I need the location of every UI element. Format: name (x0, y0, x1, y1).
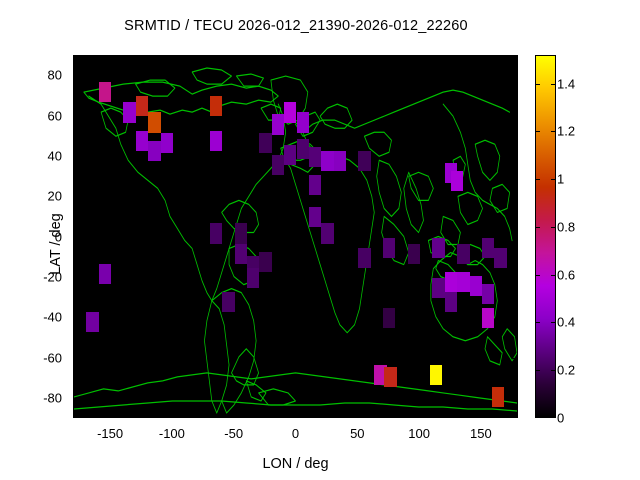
heatmap-cell (161, 133, 173, 153)
heatmap-cell (430, 365, 442, 385)
heatmap-cell (494, 248, 506, 268)
heatmap-cell (259, 252, 271, 272)
heatmap-cell (482, 284, 494, 304)
heatmap-cell (309, 175, 321, 195)
x-tick-label: 150 (451, 426, 511, 441)
y-tick-label: -80 (0, 390, 62, 405)
heatmap-cell (321, 223, 333, 243)
colorbar-tick-mark (551, 227, 556, 228)
heatmap-cell (309, 207, 321, 227)
heatmap-cell (210, 131, 222, 151)
x-tick-mark (234, 413, 235, 418)
x-tick-label: -50 (204, 426, 264, 441)
y-tick-mark (513, 75, 518, 76)
heatmap-cell (383, 238, 395, 258)
y-tick-label: 40 (0, 148, 62, 163)
heatmap-cell (408, 244, 420, 264)
x-tick-label: -100 (142, 426, 202, 441)
colorbar-tick-mark (551, 275, 556, 276)
heatmap-cell (309, 147, 321, 167)
colorbar-tick-mark (551, 322, 556, 323)
heatmap-cell (86, 312, 98, 332)
heatmap-cell (334, 151, 346, 171)
y-tick-mark (73, 75, 78, 76)
x-tick-mark (419, 413, 420, 418)
heatmap-cell (457, 272, 469, 292)
y-tick-mark (73, 358, 78, 359)
colorbar[interactable] (535, 55, 556, 418)
y-tick-label: 80 (0, 68, 62, 83)
heatmap-cell (210, 223, 222, 243)
x-tick-label: 0 (266, 426, 326, 441)
heatmap-cell (247, 268, 259, 288)
y-tick-mark (73, 156, 78, 157)
colorbar-tick-mark (551, 131, 556, 132)
x-tick-label: -150 (80, 426, 140, 441)
y-axis-title: LAT / deg (48, 164, 64, 324)
colorbar-tick-label: 1.2 (557, 124, 575, 139)
heatmap-cell (284, 102, 296, 122)
colorbar-tick-label: 1 (557, 172, 564, 187)
heatmap-cell (136, 131, 148, 151)
map-plot-area[interactable] (73, 55, 518, 418)
colorbar-tick-mark (535, 179, 540, 180)
heatmap-cell (383, 308, 395, 328)
x-tick-mark (481, 413, 482, 418)
heatmap-cell (235, 223, 247, 243)
heatmap-cell (284, 145, 296, 165)
y-tick-mark (513, 116, 518, 117)
x-tick-mark (234, 55, 235, 60)
heatmap-cell (148, 141, 160, 161)
heatmap-cell (235, 244, 247, 264)
heatmap-cell (470, 276, 482, 296)
y-tick-mark (73, 196, 78, 197)
heatmap-cell (123, 102, 135, 122)
x-tick-mark (357, 55, 358, 60)
colorbar-tick-mark (535, 275, 540, 276)
colorbar-tick-mark (535, 227, 540, 228)
y-tick-mark (513, 196, 518, 197)
heatmap-cell (321, 151, 333, 171)
colorbar-tick-mark (535, 322, 540, 323)
x-tick-mark (296, 55, 297, 60)
heatmap-cell (210, 96, 222, 116)
y-tick-label: 60 (0, 108, 62, 123)
y-tick-mark (513, 398, 518, 399)
heatmap-cell (445, 272, 457, 292)
y-tick-mark (73, 277, 78, 278)
x-tick-mark (172, 55, 173, 60)
heatmap-cell (457, 244, 469, 264)
x-tick-mark (481, 55, 482, 60)
heatmap-cell (222, 292, 234, 312)
y-tick-mark (73, 398, 78, 399)
colorbar-tick-label: 0.8 (557, 219, 575, 234)
y-tick-mark (513, 156, 518, 157)
heatmap-cell (358, 248, 370, 268)
heatmap-cell (136, 96, 148, 116)
y-tick-mark (73, 317, 78, 318)
colorbar-tick-label: 1.4 (557, 76, 575, 91)
colorbar-tick-mark (551, 370, 556, 371)
colorbar-tick-mark (535, 370, 540, 371)
heatmap-cell (272, 155, 284, 175)
heatmap-cell (451, 171, 463, 191)
x-tick-mark (357, 413, 358, 418)
x-tick-mark (172, 413, 173, 418)
heatmap-cell (432, 278, 444, 298)
colorbar-tick-mark (535, 84, 540, 85)
heatmap-cell (272, 114, 284, 134)
y-tick-mark (73, 237, 78, 238)
heatmap-cell (297, 139, 309, 159)
heatmap-cell (492, 387, 504, 407)
heatmap-cell (148, 112, 160, 132)
x-tick-mark (110, 413, 111, 418)
heatmap-cell (432, 238, 444, 258)
x-tick-label: 100 (389, 426, 449, 441)
y-tick-mark (513, 277, 518, 278)
colorbar-tick-mark (535, 131, 540, 132)
colorbar-tick-label: 0.6 (557, 267, 575, 282)
heatmap-cell (259, 133, 271, 153)
heatmap-cell (384, 367, 396, 387)
colorbar-gradient (536, 56, 555, 417)
x-axis-title: LON / deg (73, 456, 518, 472)
x-tick-mark (110, 55, 111, 60)
y-tick-mark (513, 317, 518, 318)
heatmap-cell (482, 238, 494, 258)
x-tick-label: 50 (327, 426, 387, 441)
heatmap-cell (99, 82, 111, 102)
chart-title: SRMTID / TECU 2026-012_21390-2026-012_22… (0, 18, 592, 34)
heatmap-cell (445, 292, 457, 312)
y-tick-mark (513, 358, 518, 359)
y-tick-mark (73, 116, 78, 117)
colorbar-tick-label: 0 (557, 411, 564, 426)
colorbar-tick-mark (551, 179, 556, 180)
heatmap-cell-layer (74, 56, 517, 417)
heatmap-cell (99, 264, 111, 284)
colorbar-tick-mark (551, 84, 556, 85)
x-tick-mark (419, 55, 420, 60)
heatmap-cell (358, 151, 370, 171)
y-tick-mark (513, 237, 518, 238)
heatmap-cell (297, 112, 309, 132)
colorbar-tick-label: 0.4 (557, 315, 575, 330)
chart-root: SRMTID / TECU 2026-012_21390-2026-012_22… (0, 0, 640, 480)
y-tick-label: -60 (0, 350, 62, 365)
heatmap-cell (482, 308, 494, 328)
x-tick-mark (296, 413, 297, 418)
colorbar-tick-label: 0.2 (557, 363, 575, 378)
